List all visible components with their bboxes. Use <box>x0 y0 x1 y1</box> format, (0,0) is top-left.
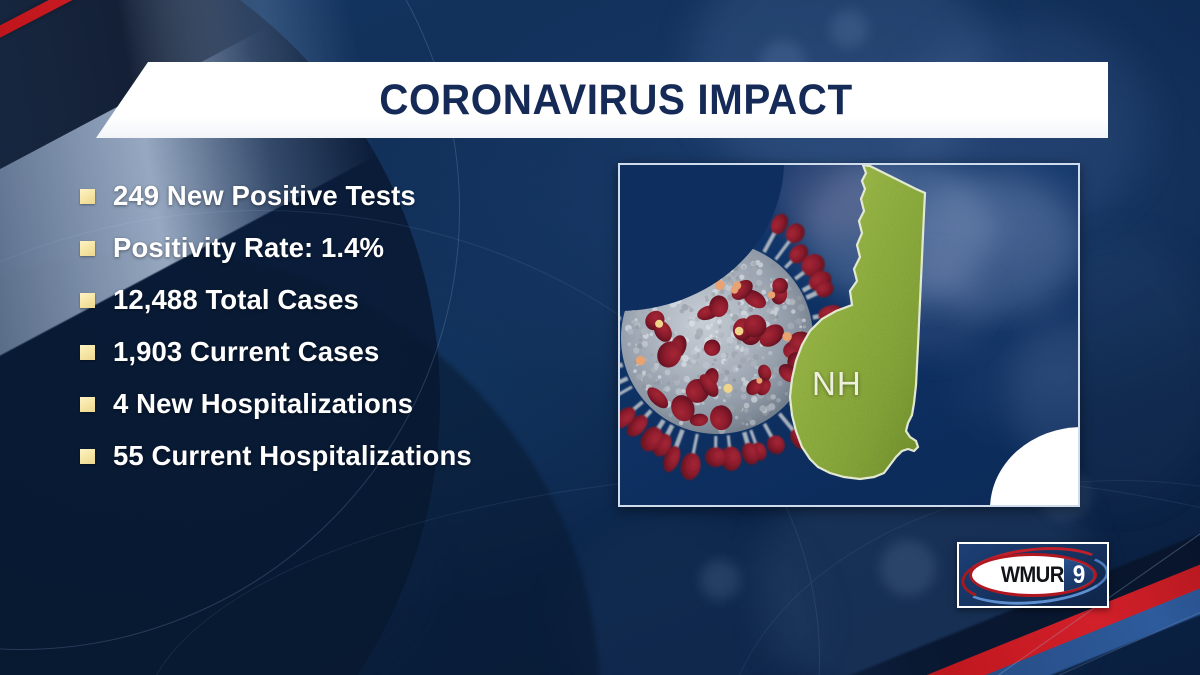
list-item-label: Positivity Rate: 1.4% <box>113 232 384 264</box>
map-state-label: NH <box>812 365 862 403</box>
broadcast-graphic: CORONAVIRUS IMPACT 249 New Positive Test… <box>0 0 1200 675</box>
list-item: 55 Current Hospitalizations <box>80 430 600 482</box>
square-bullet-icon <box>80 293 95 308</box>
photo-panel: NH <box>618 163 1080 507</box>
new-hampshire-state-map-icon <box>766 165 956 499</box>
list-item: 4 New Hospitalizations <box>80 378 600 430</box>
list-item-label: 1,903 Current Cases <box>113 336 379 368</box>
photo-panel-image: NH <box>620 165 1078 505</box>
list-item: 1,903 Current Cases <box>80 326 600 378</box>
list-item-label: 55 Current Hospitalizations <box>113 440 472 472</box>
list-item-label: 249 New Positive Tests <box>113 180 416 212</box>
logo-oval: WMUR 9 <box>969 553 1097 597</box>
logo-channel-number: 9 <box>1073 563 1086 588</box>
square-bullet-icon <box>80 345 95 360</box>
list-item: 12,488 Total Cases <box>80 274 600 326</box>
list-item-label: 4 New Hospitalizations <box>113 388 413 420</box>
square-bullet-icon <box>80 397 95 412</box>
station-logo-inner: WMUR 9 <box>959 544 1107 606</box>
panel-corner-bottom-right <box>990 427 1078 505</box>
logo-channel-badge: 9 <box>1064 556 1094 594</box>
list-item: 249 New Positive Tests <box>80 170 600 222</box>
title-banner: CORONAVIRUS IMPACT <box>96 62 1108 138</box>
list-item-label: 12,488 Total Cases <box>113 284 359 316</box>
statistics-list: 249 New Positive Tests Positivity Rate: … <box>80 170 600 482</box>
list-item: Positivity Rate: 1.4% <box>80 222 600 274</box>
square-bullet-icon <box>80 189 95 204</box>
background-ghost-dot <box>830 10 868 48</box>
square-bullet-icon <box>80 449 95 464</box>
square-bullet-icon <box>80 241 95 256</box>
page-title: CORONAVIRUS IMPACT <box>351 76 853 125</box>
logo-wordmark: WMUR <box>1001 562 1066 588</box>
station-logo: WMUR 9 <box>957 542 1109 608</box>
